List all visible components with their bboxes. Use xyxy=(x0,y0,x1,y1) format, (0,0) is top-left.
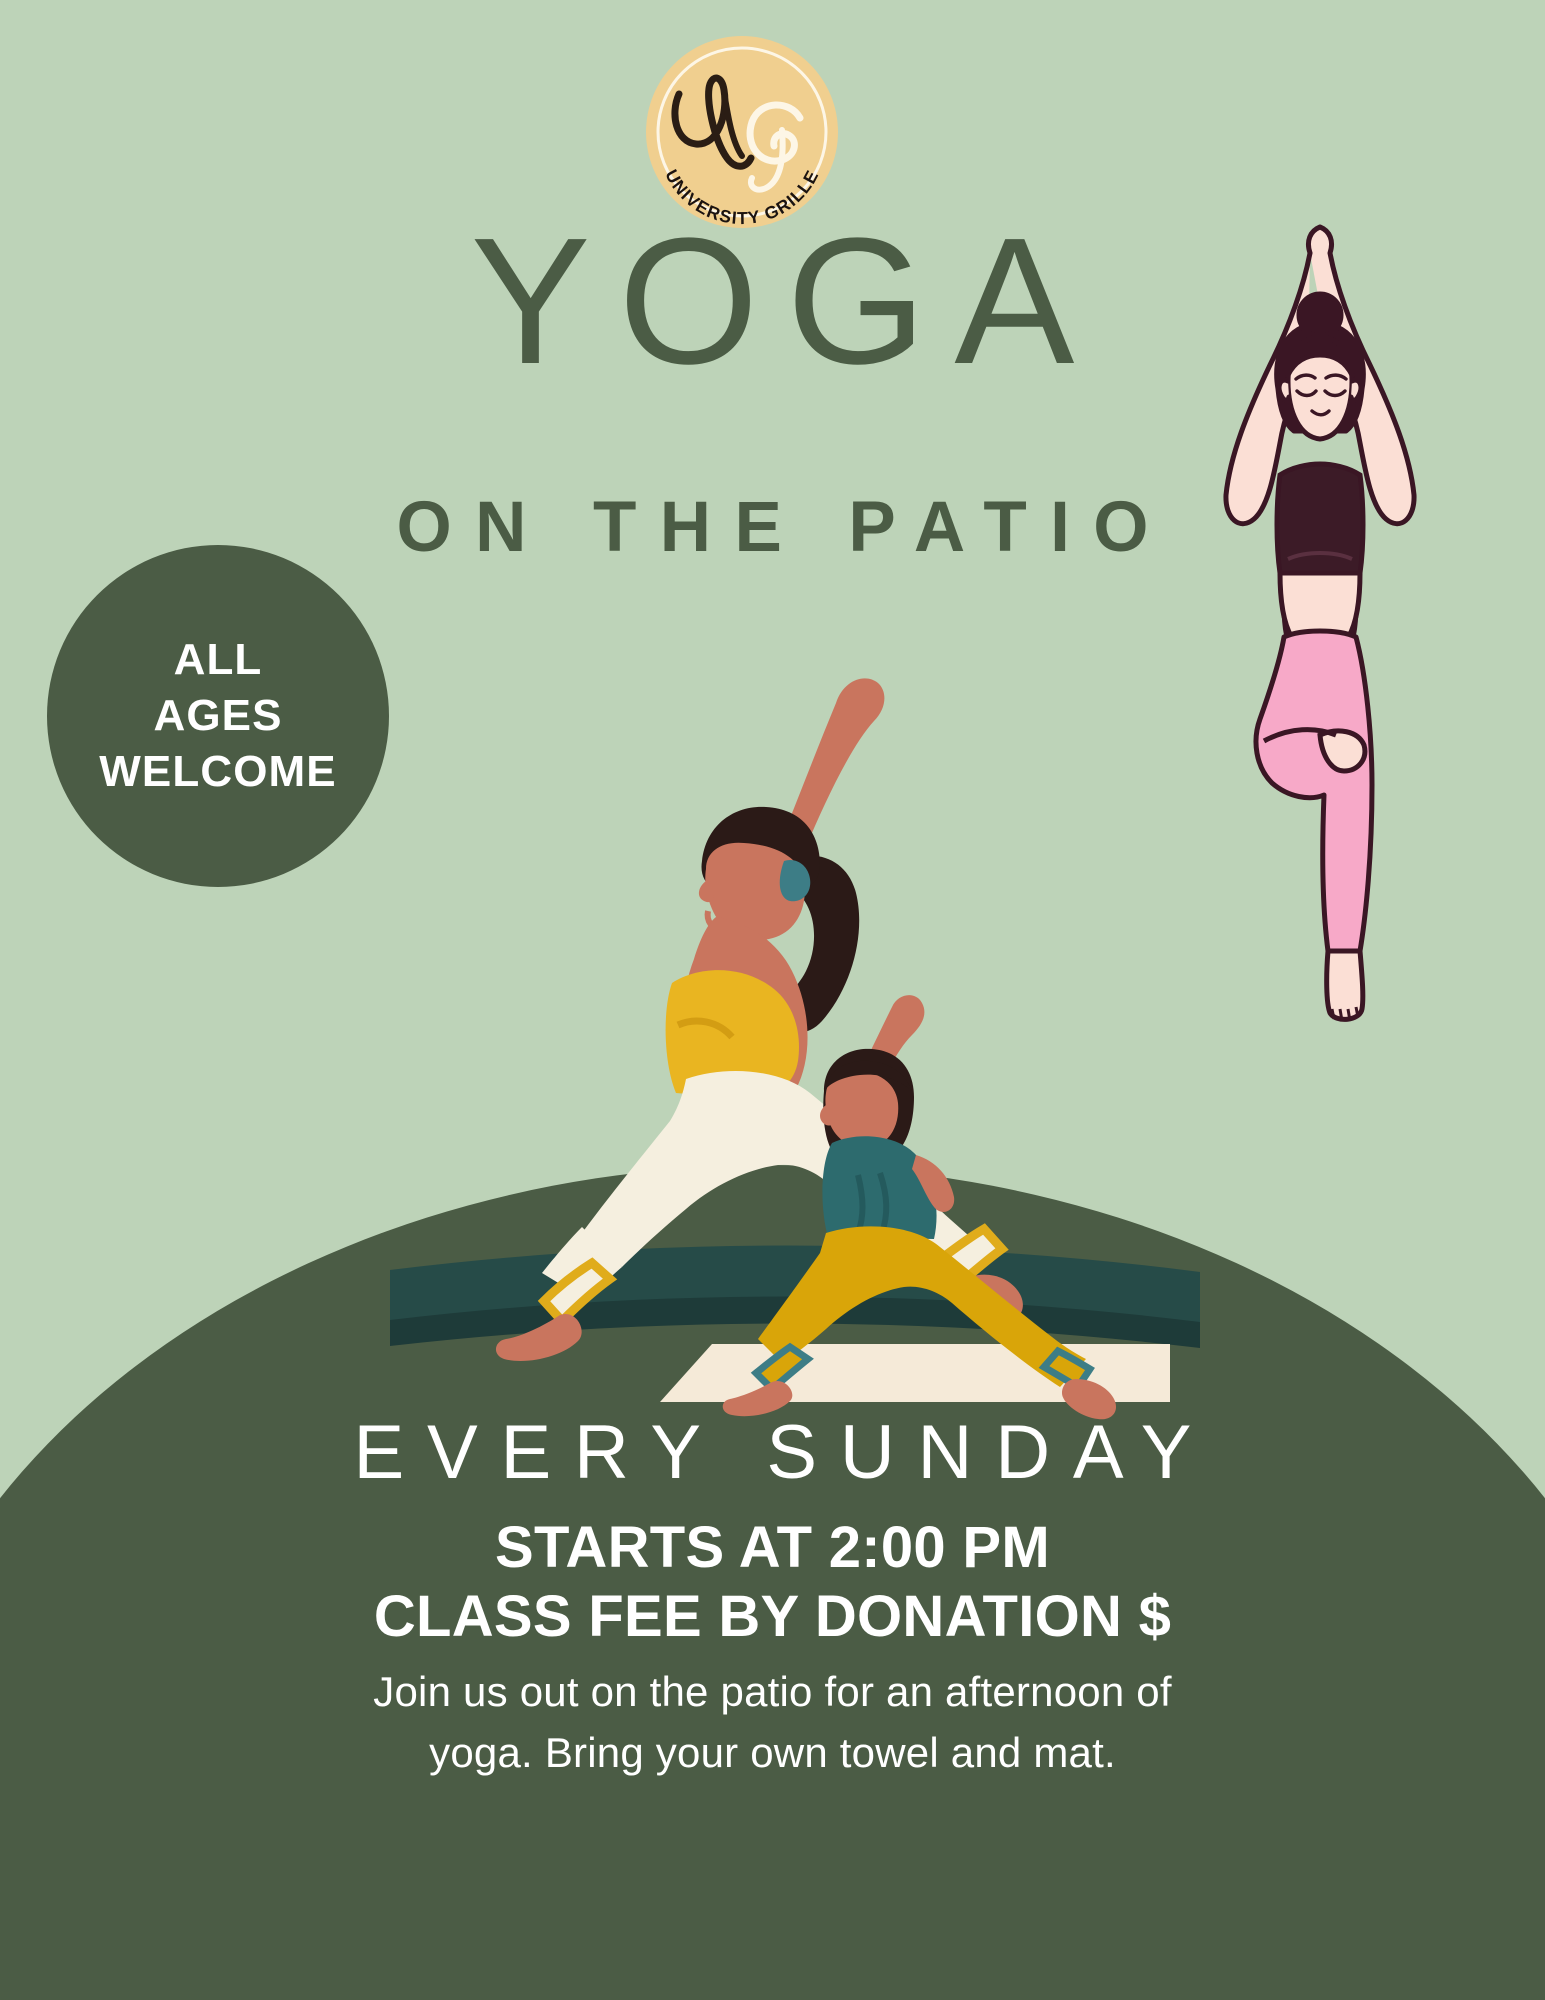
event-day: EVERY SUNDAY xyxy=(0,1415,1545,1491)
event-description: Join us out on the patio for an afternoo… xyxy=(0,1662,1545,1783)
illustration-child-warrior-pose xyxy=(740,965,1160,1390)
badge-line-2: AGES xyxy=(153,688,282,744)
event-details: EVERY SUNDAY STARTS AT 2:00 PM CLASS FEE… xyxy=(0,1415,1545,1783)
badge-line-3: WELCOME xyxy=(99,744,336,800)
badge-line-1: ALL xyxy=(174,632,263,688)
all-ages-welcome-badge: ALL AGES WELCOME xyxy=(47,545,389,887)
event-time: STARTS AT 2:00 PM xyxy=(0,1517,1545,1580)
poster-canvas: UNIVERSITY GRILLE xyxy=(0,0,1545,2000)
event-fee: CLASS FEE BY DONATION $ xyxy=(0,1586,1545,1649)
university-grille-logo: UNIVERSITY GRILLE xyxy=(632,22,852,242)
